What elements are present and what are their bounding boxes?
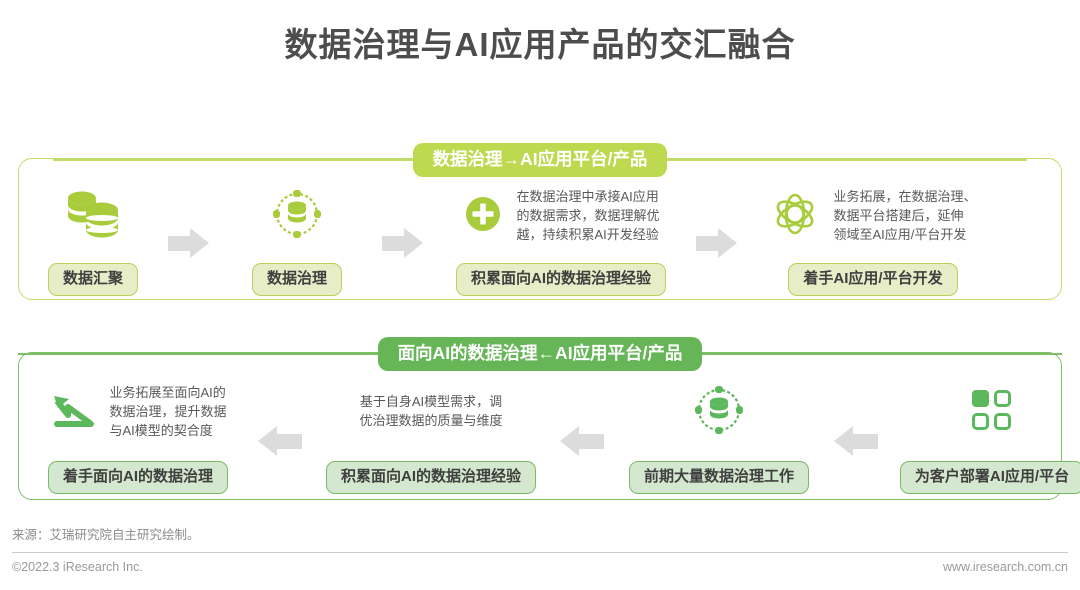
flow-two-step-2[interactable]: 基于自身AI模型需求，调 优治理数据的质量与维度 积累面向AI的数据治理经验 (302, 372, 560, 494)
flow-two-steps: 业务拓展至面向AI的 数据治理，提升数据 与AI模型的契合度 着手面向AI的数据… (18, 372, 1062, 494)
footer-bar: ©2022.3 iResearch Inc. www.iresearch.com… (12, 552, 1068, 574)
atom-icon (769, 188, 821, 245)
flow-arrow-right-2 (382, 228, 426, 258)
flow-arrow-left-3 (834, 426, 878, 456)
flow-one-steps: 数据汇聚 (18, 178, 1062, 296)
flow-arrow-right-1 (168, 228, 212, 258)
flow-arrow-left-2 (560, 426, 604, 456)
grid-squares-icon (969, 387, 1015, 438)
flow-two-step-4[interactable]: 为客户部署AI应用/平台 (878, 372, 1080, 494)
flow-one-step-4[interactable]: 业务拓展，在数据治理、 数据平台搭建后，延伸 领域至AI应用/平台开发 着手AI… (740, 178, 1006, 296)
step-top (604, 372, 834, 453)
arrow-head (404, 228, 423, 258)
step-top: 基于自身AI模型需求，调 优治理数据的质量与维度 (302, 372, 560, 453)
step-top (212, 178, 382, 255)
flow-one-step-1[interactable]: 数据汇聚 (18, 178, 168, 296)
flow-two-step-1[interactable]: 业务拓展至面向AI的 数据治理，提升数据 与AI模型的契合度 着手面向AI的数据… (18, 372, 258, 494)
data-governance-icon (270, 187, 324, 246)
page-title: 数据治理与AI应用产品的交汇融合 (0, 0, 1080, 66)
flow-arrow-left-1 (258, 426, 302, 456)
step-top (18, 178, 168, 255)
step-top: 业务拓展至面向AI的 数据治理，提升数据 与AI模型的契合度 (18, 372, 258, 453)
trend-up-arrow-icon (49, 388, 97, 437)
arrow-head (718, 228, 737, 258)
arrow-head (190, 228, 209, 258)
arrow-shaft (852, 434, 878, 449)
step-top: 业务拓展，在数据治理、 数据平台搭建后，延伸 领域至AI应用/平台开发 (740, 178, 1006, 255)
flow-two-step-3[interactable]: 前期大量数据治理工作 (604, 372, 834, 494)
source-note: 来源：艾瑞研究院自主研究绘制。 (12, 524, 200, 543)
flow-one-step-3-desc: 在数据治理中承接AI应用 的数据需求，数据理解优 越，持续积累AI开发经验 (516, 188, 659, 245)
flow-one-step-4-desc: 业务拓展，在数据治理、 数据平台搭建后，延伸 领域至AI应用/平台开发 (833, 188, 976, 245)
flow-two-step-1-desc: 业务拓展至面向AI的 数据治理，提升数据 与AI模型的契合度 (109, 384, 226, 441)
data-governance-icon (692, 383, 746, 442)
flow-two-step-4-label: 为客户部署AI应用/平台 (900, 461, 1080, 495)
flow-one-step-3-label: 积累面向AI的数据治理经验 (456, 263, 666, 297)
flow-two-step-2-label: 积累面向AI的数据治理经验 (326, 461, 536, 495)
flow-arrow-right-3 (696, 228, 740, 258)
arrow-shaft (578, 434, 604, 449)
website-link[interactable]: www.iresearch.com.cn (943, 560, 1068, 574)
arrow-head (560, 426, 579, 456)
arrow-shaft (276, 434, 302, 449)
flow-one-step-2[interactable]: 数据治理 (212, 178, 382, 296)
plus-circle-icon (462, 193, 504, 240)
arrow-head (258, 426, 277, 456)
step-top: 在数据治理中承接AI应用 的数据需求，数据理解优 越，持续积累AI开发经验 (426, 178, 696, 255)
flow-two-step-2-desc: 基于自身AI模型需求，调 优治理数据的质量与维度 (359, 393, 502, 431)
flow-two-step-3-label: 前期大量数据治理工作 (629, 461, 809, 495)
step-top (878, 372, 1080, 453)
flow-one-step-4-label: 着手AI应用/平台开发 (788, 263, 957, 297)
database-stack-icon (64, 188, 122, 245)
flow-one-step-3[interactable]: 在数据治理中承接AI应用 的数据需求，数据理解优 越，持续积累AI开发经验 积累… (426, 178, 696, 296)
copyright-text: ©2022.3 iResearch Inc. (12, 560, 143, 574)
arrow-head (834, 426, 853, 456)
flow-two-step-1-label: 着手面向AI的数据治理 (48, 461, 228, 495)
flow-one-step-2-label: 数据治理 (252, 263, 342, 297)
flow-one-step-1-label: 数据汇聚 (48, 263, 138, 297)
